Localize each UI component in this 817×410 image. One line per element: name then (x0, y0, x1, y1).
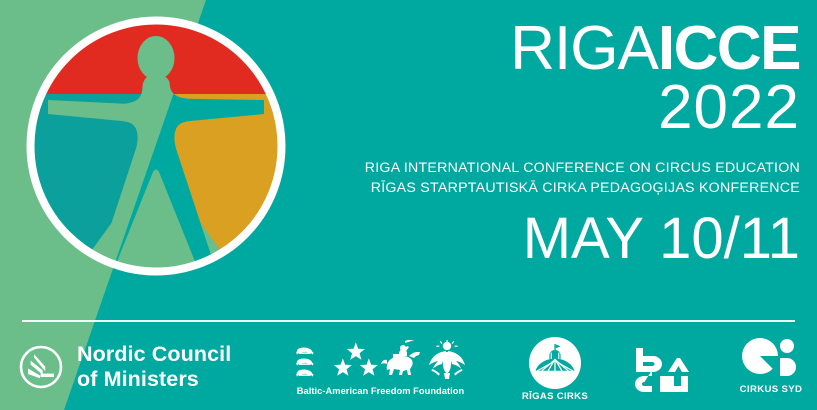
conference-subtitle: RIGA INTERNATIONAL CONFERENCE ON CIRCUS … (200, 158, 800, 198)
sponsor-cirkus-syd[interactable]: CIRKUS SYD (730, 336, 812, 395)
nordic-council-line-2: of Ministers (77, 367, 231, 392)
nordic-swan-circle-icon (18, 344, 64, 390)
footer-divider (22, 320, 795, 322)
circus-tent-circle-icon (528, 336, 582, 390)
headline-year: 2022 (300, 79, 800, 136)
rigas-cirks-caption: RĪGAS CIRKS (505, 391, 605, 402)
event-dateline: MAY 10/11 (300, 210, 800, 268)
cirkus-syd-caption: CIRKUS SYD (730, 384, 812, 395)
estonia-three-lions-icon (292, 340, 332, 382)
nordic-council-line-1: Nordic Council (77, 342, 231, 367)
baff-caption: Baltic-American Freedom Foundation (288, 386, 473, 396)
sponsor-nordic-council-of-ministers[interactable]: Nordic Council of Ministers (18, 342, 231, 392)
sponsor-footer: Nordic Council of Ministers (0, 330, 817, 410)
headline-line-1: RIGAICCE (300, 20, 800, 77)
lithuania-vytis-knight-icon (379, 340, 423, 382)
baff-emblem-row (288, 338, 473, 382)
subtitle-line-english: RIGA INTERNATIONAL CONFERENCE ON CIRCUS … (200, 158, 800, 178)
latvia-three-stars-icon (334, 340, 378, 382)
bcn-monogram-icon (634, 346, 700, 394)
subtitle-line-latvian: RĪGAS STARPTAUTISKĀ CIRKA PEDAGOĢIJAS KO… (200, 178, 800, 198)
event-headline: RIGAICCE 2022 (300, 20, 800, 136)
nordic-council-label: Nordic Council of Ministers (77, 342, 231, 392)
sponsor-bcn[interactable] (624, 346, 710, 394)
sponsor-baltic-american-freedom-foundation[interactable]: Baltic-American Freedom Foundation (288, 338, 473, 396)
poster-canvas: RIGAICCE 2022 RIGA INTERNATIONAL CONFERE… (0, 0, 817, 410)
sponsor-rigas-cirks[interactable]: RĪGAS CIRKS (505, 336, 605, 402)
headline-riga: RIGA (510, 14, 658, 83)
vitruvian-circle-logo (22, 12, 290, 280)
usa-great-seal-eagle-icon (425, 340, 469, 382)
cs-monogram-icon (740, 336, 802, 382)
